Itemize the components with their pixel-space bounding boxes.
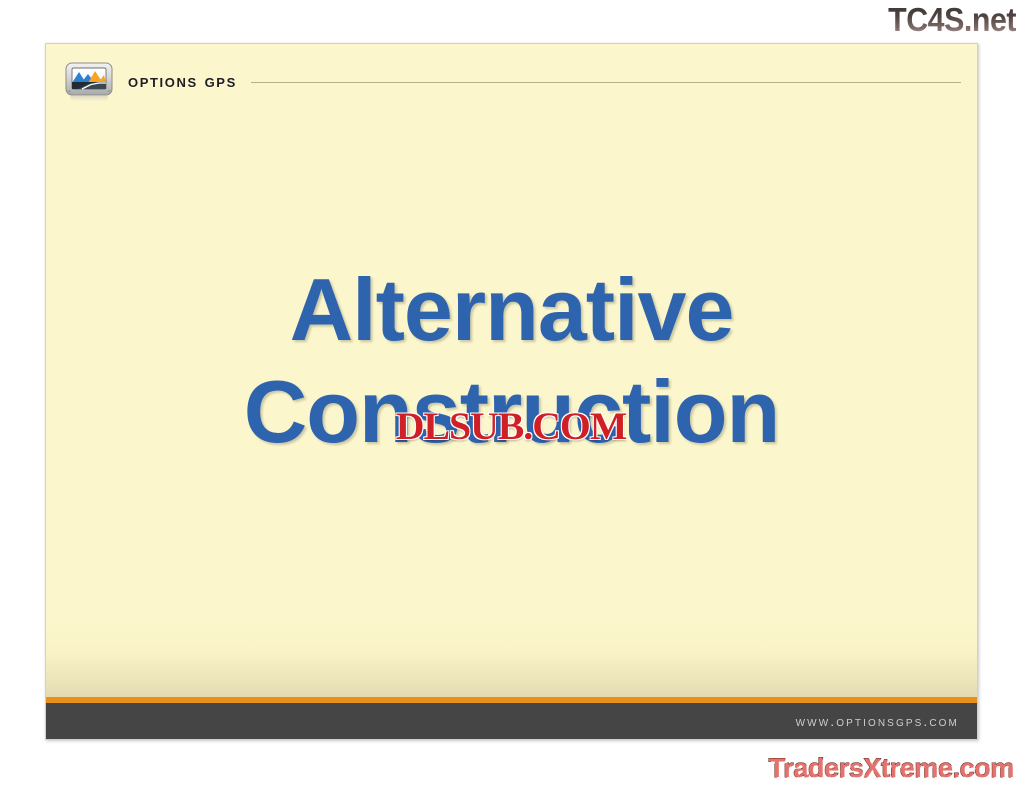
gps-device-icon	[64, 60, 116, 104]
slide-header: Options GPS	[64, 57, 967, 107]
slide-footer: www.OptionsGPS.com	[46, 697, 977, 739]
footer-url-label: www.OptionsGPS.com	[796, 713, 977, 729]
brand-title: Options GPS	[128, 71, 237, 93]
presentation-slide: Options GPS Alternative Construction DLS…	[45, 43, 978, 740]
header-divider-rule	[251, 82, 961, 83]
slide-title-line-2: Construction	[86, 361, 937, 463]
slide-bottom-gradient	[46, 617, 977, 697]
tradersxtreme-site-watermark: TradersXtreme.com	[769, 753, 1014, 783]
slide-title: Alternative Construction	[86, 259, 937, 463]
tc4s-site-watermark: TC4S.net	[888, 2, 1016, 38]
slide-title-line-1: Alternative	[86, 259, 937, 361]
